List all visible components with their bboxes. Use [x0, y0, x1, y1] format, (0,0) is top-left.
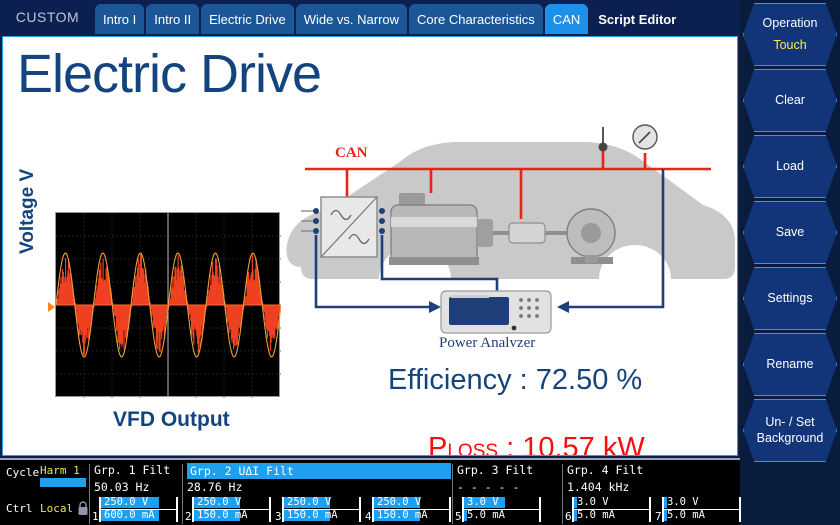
sidebar-button-sublabel: Touch — [773, 38, 806, 54]
channel-bracket-right — [649, 497, 651, 522]
sidebar-button-label: Rename — [766, 357, 813, 373]
sidebar-button-clear[interactable]: Clear — [743, 69, 837, 132]
channel-current-value: 5.0 mA — [577, 509, 615, 522]
status-group-1: Grp. 1 Filt50.03 Hz1250.0 V600.0 mA — [92, 460, 185, 525]
status-channel-3[interactable]: 3250.0 V150.0 mA — [275, 496, 363, 524]
gauge-icon — [633, 125, 657, 149]
status-group-header[interactable]: Grp. 4 Filt — [567, 463, 643, 477]
scope-panel: Voltage V VFD Output — [55, 212, 285, 442]
scope-trigger-marker[interactable] — [48, 302, 55, 312]
channel-current-value: 150.0 mA — [287, 509, 338, 522]
channel-number: 2 — [185, 510, 192, 523]
status-channel-2[interactable]: 2250.0 V150.0 mA — [185, 496, 273, 524]
sidebar-button-label: Save — [776, 225, 805, 241]
ploss-value: 10.57 kW — [522, 432, 645, 456]
channel-voltage-value: 250.0 V — [197, 496, 241, 509]
channel-current-value: 5.0 mA — [467, 509, 505, 522]
channel-number: 1 — [92, 510, 99, 523]
channel-current-row: 5.0 mA — [464, 509, 538, 522]
power-analyzer-icon — [441, 291, 551, 333]
sidebar-button-label: Load — [776, 159, 804, 175]
tab-core-characteristics[interactable]: Core Characteristics — [409, 4, 543, 34]
sidebar-button-un-set-background[interactable]: Un- / Set Background — [743, 399, 837, 462]
tab-electric-drive[interactable]: Electric Drive — [201, 4, 294, 34]
application-window: CUSTOM Intro IIntro IIElectric DriveWide… — [0, 0, 840, 525]
tab-intro-ii[interactable]: Intro II — [146, 4, 199, 34]
channel-current-row: 5.0 mA — [664, 509, 738, 522]
sidebar-button-save[interactable]: Save — [743, 201, 837, 264]
status-group-header[interactable]: Grp. 1 Filt — [94, 463, 170, 477]
status-channel-7[interactable]: 73.0 V5.0 mA — [655, 496, 743, 524]
status-group-header[interactable]: Grp. 2 UΔI Filt — [187, 463, 451, 479]
channel-current-value: 5.0 mA — [667, 509, 705, 522]
efficiency-readout: Efficiency : 72.50 % — [388, 364, 642, 397]
sidebar-button-load[interactable]: Load — [743, 135, 837, 198]
page-title: Electric Drive — [17, 43, 321, 105]
status-group-divider — [562, 464, 563, 524]
status-cycle-column: Cycle Harm 1 Ctrl Local — [4, 460, 92, 525]
status-group-2: Grp. 2 UΔI Filt28.76 Hz2250.0 V150.0 mA3… — [185, 460, 455, 525]
can-bus-label: CAN — [335, 145, 368, 161]
channel-current-value: 150.0 mA — [197, 509, 248, 522]
sidebar-button-label: Clear — [775, 93, 805, 109]
tab-can[interactable]: CAN — [545, 4, 588, 34]
custom-label: CUSTOM — [0, 0, 95, 34]
channel-bracket-right — [539, 497, 541, 522]
channel-voltage-row: 250.0 V — [374, 496, 448, 509]
channel-voltage-value: 3.0 V — [467, 496, 499, 509]
scope-caption: VFD Output — [113, 408, 230, 432]
sidebar-button-rename[interactable]: Rename — [743, 333, 837, 396]
channel-voltage-value: 3.0 V — [577, 496, 609, 509]
channel-voltage-value: 3.0 V — [667, 496, 699, 509]
efficiency-value: 72.50 % — [536, 364, 642, 396]
channel-number: 5 — [455, 510, 462, 523]
channel-voltage-row: 3.0 V — [664, 496, 738, 509]
status-group-divider — [89, 464, 90, 524]
ctrl-label: Ctrl — [6, 502, 33, 515]
scope-y-axis-label: Voltage V — [17, 169, 39, 254]
status-group-frequency: - - - - - — [457, 480, 519, 494]
status-channel-4[interactable]: 4250.0 V150.0 mA — [365, 496, 453, 524]
cycle-value[interactable]: Harm 1 — [40, 464, 80, 477]
sidebar-button-label: Settings — [767, 291, 812, 307]
status-group-divider — [182, 464, 183, 524]
tab-wide-vs-narrow[interactable]: Wide vs. Narrow — [296, 4, 407, 34]
channel-voltage-row: 250.0 V — [101, 496, 175, 509]
channel-number: 7 — [655, 510, 662, 523]
temperature-sensor-icon — [599, 127, 608, 152]
tab-bar: CUSTOM Intro IIntro IIElectric DriveWide… — [0, 0, 740, 34]
sidebar-button-label: Un- / Set Background — [743, 415, 837, 446]
channel-bracket-right — [176, 497, 178, 522]
channel-current-row: 150.0 mA — [194, 509, 268, 522]
ploss-separator: : — [498, 432, 522, 456]
power-loss-readout: PLOSS : 10.57 kW — [428, 432, 645, 456]
efficiency-label: Efficiency : — [388, 364, 536, 396]
channel-bracket-right — [359, 497, 361, 522]
channel-voltage-row: 3.0 V — [574, 496, 648, 509]
ploss-subscript: LOSS — [447, 441, 498, 456]
channel-bracket-right — [739, 497, 741, 522]
status-channel-5[interactable]: 53.0 V5.0 mA — [455, 496, 543, 524]
tab-list: Intro IIntro IIElectric DriveWide vs. Na… — [95, 0, 686, 34]
channel-voltage-row: 250.0 V — [194, 496, 268, 509]
status-group-frequency: 28.76 Hz — [187, 480, 242, 494]
status-channel-6[interactable]: 63.0 V5.0 mA — [565, 496, 653, 524]
channel-voltage-row: 250.0 V — [284, 496, 358, 509]
scope-waveform — [56, 213, 281, 398]
channel-voltage-row: 3.0 V — [464, 496, 538, 509]
channel-current-value: 150.0 mA — [377, 509, 428, 522]
lock-icon[interactable] — [77, 501, 89, 516]
channel-current-row: 5.0 mA — [574, 509, 648, 522]
inverter-output-terminals — [379, 208, 385, 234]
channel-current-row: 150.0 mA — [284, 509, 358, 522]
channel-bracket-right — [269, 497, 271, 522]
sidebar-button-label: Operation — [763, 16, 818, 32]
channel-voltage-value: 250.0 V — [377, 496, 421, 509]
main-canvas: Electric Drive CAN — [2, 36, 738, 456]
vehicle-powertrain-diagram: CAN — [283, 97, 738, 347]
channel-current-row: 600.0 mA — [101, 509, 175, 522]
status-channel-1[interactable]: 1250.0 V600.0 mA — [92, 496, 180, 524]
channel-number: 3 — [275, 510, 282, 523]
inverter-block-icon — [321, 197, 377, 257]
status-group-3: Grp. 3 Filt- - - - -53.0 V5.0 mA — [455, 460, 565, 525]
sidebar-menu: OperationTouchClearLoadSaveSettingsRenam… — [740, 0, 840, 525]
status-group-4: Grp. 4 Filt1.404 kHz63.0 V5.0 mA73.0 V5.… — [565, 460, 740, 525]
status-group-frequency: 1.404 kHz — [567, 480, 629, 494]
channel-bracket-right — [449, 497, 451, 522]
sidebar-button-operation[interactable]: OperationTouch — [743, 3, 837, 66]
channel-number: 6 — [565, 510, 572, 523]
status-group-header[interactable]: Grp. 3 Filt — [457, 463, 533, 477]
channel-number: 4 — [365, 510, 372, 523]
channel-voltage-value: 250.0 V — [287, 496, 331, 509]
scope-display[interactable] — [55, 212, 280, 397]
ploss-symbol: P — [428, 432, 447, 456]
cycle-label: Cycle — [6, 466, 39, 479]
status-group-divider — [452, 464, 453, 524]
channel-current-value: 600.0 mA — [104, 509, 155, 522]
hex-shape — [743, 3, 837, 66]
sidebar-button-settings[interactable]: Settings — [743, 267, 837, 330]
cycle-bar — [40, 478, 86, 487]
power-analyzer-label: Power Analyzer — [439, 335, 535, 347]
tab-script-editor[interactable]: Script Editor — [590, 4, 684, 34]
ctrl-value[interactable]: Local — [40, 502, 73, 515]
status-group-frequency: 50.03 Hz — [94, 480, 149, 494]
tab-intro-i[interactable]: Intro I — [95, 4, 144, 34]
channel-current-row: 150.0 mA — [374, 509, 448, 522]
channel-voltage-value: 250.0 V — [104, 496, 148, 509]
status-bar: Cycle Harm 1 Ctrl Local Grp. 1 Filt50.03… — [0, 458, 740, 525]
